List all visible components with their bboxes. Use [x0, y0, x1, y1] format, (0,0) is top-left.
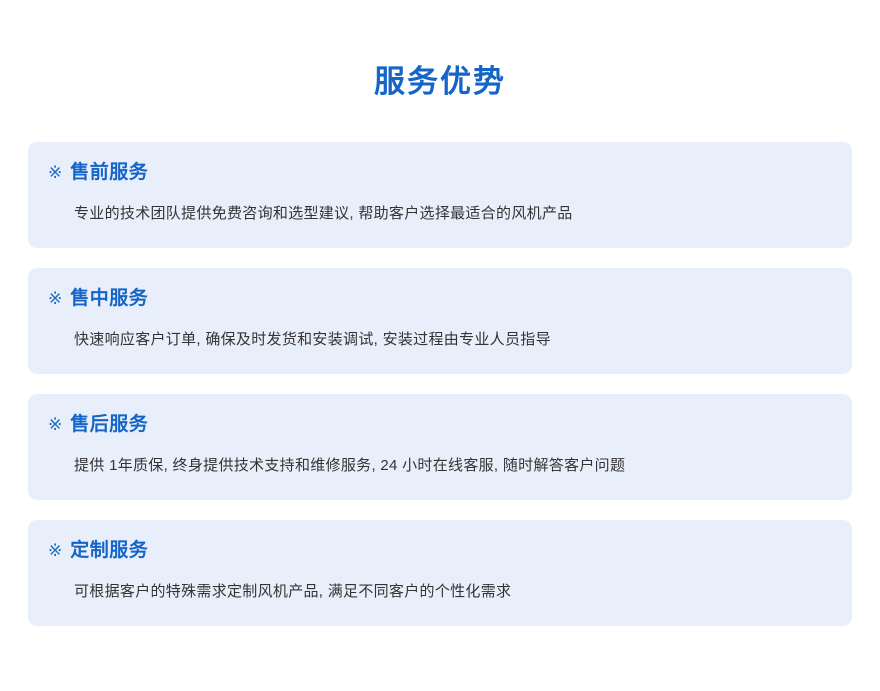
- service-card-title: 定制服务: [70, 539, 148, 563]
- service-card-aftersale: ※ 售后服务 提供 1年质保, 终身提供技术支持和维修服务, 24 小时在线客服…: [28, 394, 852, 500]
- service-card-description: 提供 1年质保, 终身提供技术支持和维修服务, 24 小时在线客服, 随时解答客…: [74, 454, 826, 478]
- service-card-custom: ※ 定制服务 可根据客户的特殊需求定制风机产品, 满足不同客户的个性化需求: [28, 520, 852, 626]
- page-title: 服务优势: [0, 0, 880, 97]
- service-card-insale: ※ 售中服务 快速响应客户订单, 确保及时发货和安装调试, 安装过程由专业人员指…: [28, 268, 852, 374]
- service-card-description: 可根据客户的特殊需求定制风机产品, 满足不同客户的个性化需求: [74, 580, 826, 604]
- reference-mark-icon: ※: [48, 290, 62, 307]
- service-card-header: ※ 售前服务: [48, 161, 826, 185]
- service-card-title: 售前服务: [70, 161, 148, 185]
- service-card-presale: ※ 售前服务 专业的技术团队提供免费咨询和选型建议, 帮助客户选择最适合的风机产…: [28, 142, 852, 248]
- service-card-title: 售中服务: [70, 287, 148, 311]
- service-card-header: ※ 售后服务: [48, 413, 826, 437]
- reference-mark-icon: ※: [48, 542, 62, 559]
- service-card-description: 专业的技术团队提供免费咨询和选型建议, 帮助客户选择最适合的风机产品: [74, 202, 826, 226]
- service-card-header: ※ 售中服务: [48, 287, 826, 311]
- service-card-title: 售后服务: [70, 413, 148, 437]
- service-card-description: 快速响应客户订单, 确保及时发货和安装调试, 安装过程由专业人员指导: [74, 328, 826, 352]
- service-card-header: ※ 定制服务: [48, 539, 826, 563]
- service-advantages-page: 服务优势 ※ 售前服务 专业的技术团队提供免费咨询和选型建议, 帮助客户选择最适…: [0, 0, 880, 691]
- reference-mark-icon: ※: [48, 416, 62, 433]
- reference-mark-icon: ※: [48, 164, 62, 181]
- service-card-list: ※ 售前服务 专业的技术团队提供免费咨询和选型建议, 帮助客户选择最适合的风机产…: [0, 142, 880, 626]
